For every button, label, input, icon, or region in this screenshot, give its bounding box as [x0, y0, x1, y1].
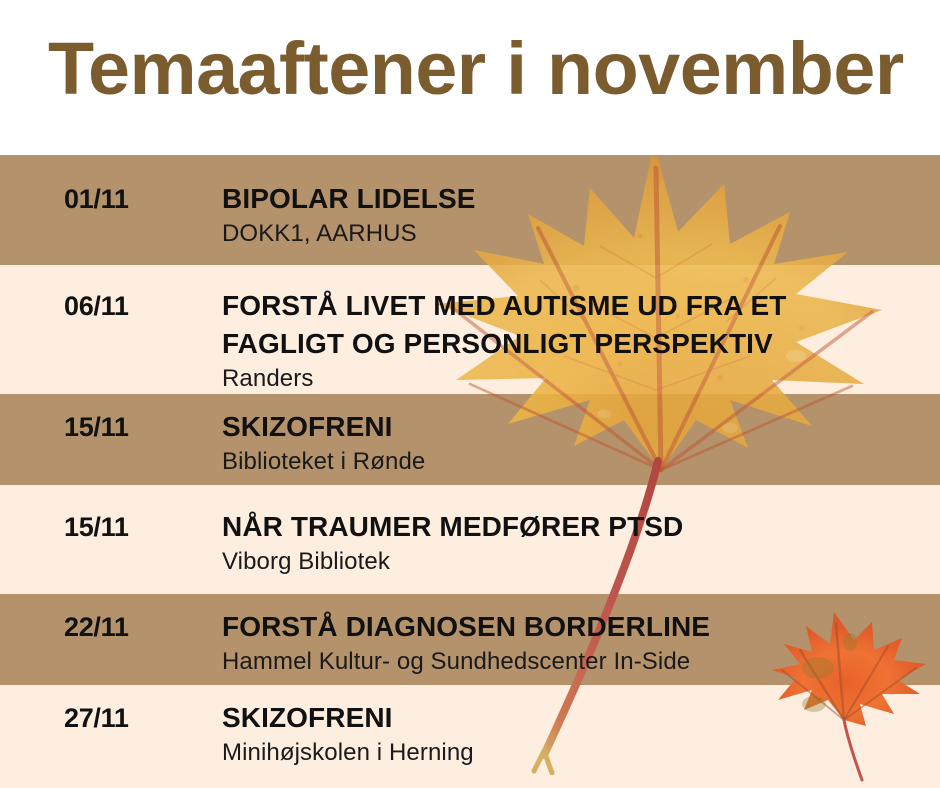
list-item[interactable]: 01/11 BIPOLAR LIDELSE DOKK1, AARHUS: [0, 155, 940, 265]
page-title: Temaaftener i november: [48, 26, 925, 112]
event-title: BIPOLAR LIDELSE: [222, 180, 912, 218]
event-date: 15/11: [64, 512, 129, 543]
list-item[interactable]: 15/11 SKIZOFRENI Biblioteket i Rønde: [0, 394, 940, 485]
event-venue: Viborg Bibliotek: [222, 547, 912, 577]
event-venue: Hammel Kultur- og Sundhedscenter In-Side: [222, 647, 912, 677]
event-title: SKIZOFRENI: [222, 699, 912, 737]
event-date: 06/11: [64, 291, 129, 322]
event-date: 15/11: [64, 412, 129, 443]
event-date: 27/11: [64, 703, 129, 734]
event-title: NÅR TRAUMER MEDFØRER PTSD: [222, 508, 912, 546]
list-item[interactable]: 06/11 FORSTÅ LIVET MED AUTISME UD FRA ET…: [0, 265, 940, 394]
event-title: FORSTÅ DIAGNOSEN BORDERLINE: [222, 608, 912, 646]
event-venue: Minihøjskolen i Herning: [222, 738, 912, 768]
event-date: 22/11: [64, 612, 129, 643]
list-item[interactable]: 22/11 FORSTÅ DIAGNOSEN BORDERLINE Hammel…: [0, 594, 940, 685]
list-item[interactable]: 15/11 NÅR TRAUMER MEDFØRER PTSD Viborg B…: [0, 485, 940, 594]
event-venue: DOKK1, AARHUS: [222, 219, 912, 249]
event-date: 01/11: [64, 184, 129, 215]
event-venue: Randers: [222, 364, 912, 394]
poster-header: Temaaftener i november: [0, 0, 940, 155]
poster-canvas: Temaaftener i november 01/11 BIPOLAR LID…: [0, 0, 940, 788]
event-venue: Biblioteket i Rønde: [222, 447, 912, 477]
list-item[interactable]: 27/11 SKIZOFRENI Minihøjskolen i Herning: [0, 685, 940, 788]
event-title: FORSTÅ LIVET MED AUTISME UD FRA ET FAGLI…: [222, 287, 912, 363]
event-title: SKIZOFRENI: [222, 408, 912, 446]
